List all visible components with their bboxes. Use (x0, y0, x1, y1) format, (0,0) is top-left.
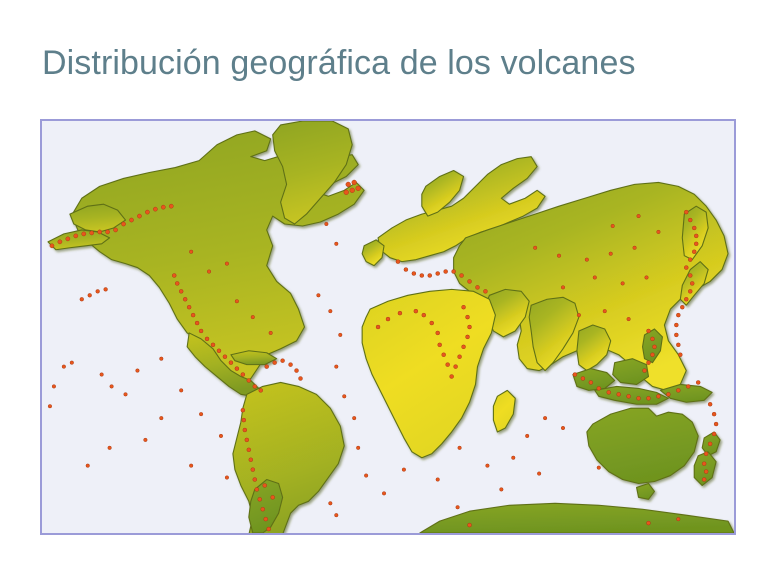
slide: Distribución geográfica de los volcanes (0, 0, 768, 561)
world-map (42, 121, 734, 533)
map-frame (40, 119, 736, 535)
page-title: Distribución geográfica de los volcanes (42, 42, 732, 84)
